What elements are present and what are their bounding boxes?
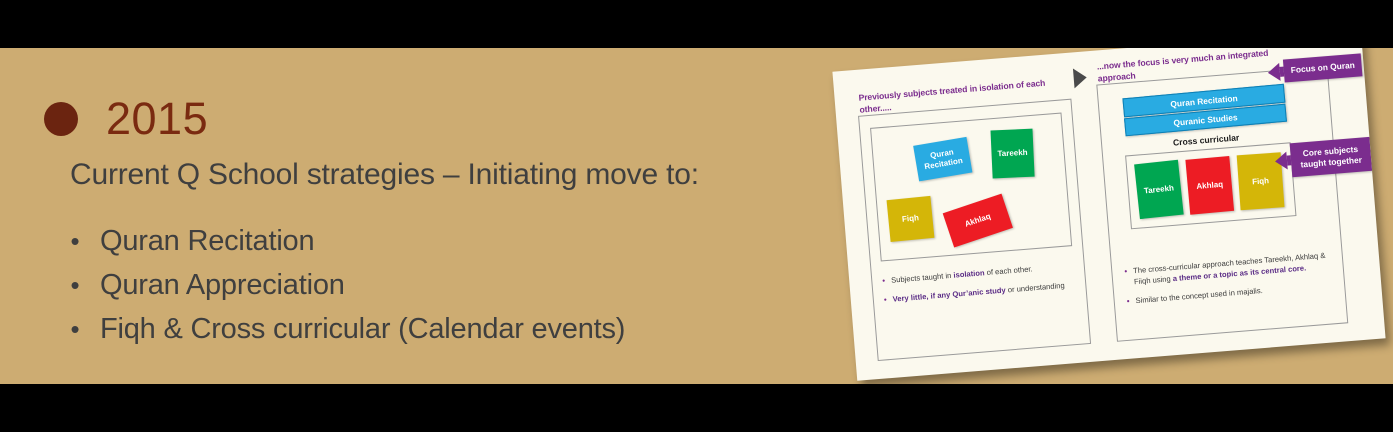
list-item-text: Similar to the concept used in majalis.	[1135, 285, 1263, 306]
bullet-glyph-icon: •	[1126, 296, 1130, 307]
bullet-glyph-icon: •	[70, 267, 80, 303]
left-panel: Quran Recitation Tareekh Fiqh Akhlaq • S…	[858, 99, 1091, 361]
list-item: • Quran Appreciation	[70, 267, 625, 303]
bullet-glyph-icon: •	[70, 311, 80, 347]
callout-core-subjects: Core subjects taught together	[1274, 137, 1372, 179]
subject-tile-tareekh: Tareekh	[990, 129, 1034, 179]
bullet-glyph-icon: •	[883, 294, 887, 305]
isolated-subjects-box: Quran Recitation Tareekh Fiqh Akhlaq	[870, 113, 1072, 262]
cross-curricular-box: Tareekh Akhlaq Fiqh	[1125, 142, 1296, 229]
bullet-list: • Quran Recitation • Quran Appreciation …	[70, 223, 625, 355]
diagram-card: Previously subjects treated in isolation…	[832, 29, 1385, 381]
list-item-text: Subjects taught in isolation of each oth…	[891, 263, 1033, 285]
slide-canvas: 2015 Current Q School strategies – Initi…	[0, 0, 1393, 432]
content-column: 2015 Current Q School strategies – Initi…	[0, 48, 840, 384]
bullet-dot-icon	[44, 102, 78, 136]
right-panel: Quran Recitation Quranic Studies Cross c…	[1096, 66, 1348, 342]
list-item: • Fiqh & Cross curricular (Calendar even…	[70, 311, 625, 347]
arrow-left-icon	[1274, 152, 1287, 171]
subject-tile-quran-recitation: Quran Recitation	[913, 137, 972, 182]
subtitle: Current Q School strategies – Initiating…	[70, 158, 699, 192]
subject-tile-akhlaq: Akhlaq	[1185, 156, 1234, 215]
list-item-label: Quran Appreciation	[100, 267, 345, 303]
callout-label: Core subjects taught together	[1290, 137, 1372, 177]
letterbox-bottom	[0, 384, 1393, 432]
page-title: 2015	[106, 96, 208, 141]
subject-tile-akhlaq: Akhlaq	[943, 194, 1013, 248]
bullet-glyph-icon: •	[70, 223, 80, 259]
bullet-glyph-icon: •	[1124, 266, 1129, 288]
arrow-left-icon	[1267, 62, 1280, 81]
right-panel-bullet-list: • The cross-curricular approach teaches …	[1124, 249, 1333, 314]
callout-label: Focus on Quran	[1283, 53, 1363, 82]
list-item-label: Fiqh & Cross curricular (Calendar events…	[100, 311, 625, 347]
subject-tile-fiqh: Fiqh	[887, 196, 935, 242]
letterbox-top	[0, 0, 1393, 48]
list-item-label: Quran Recitation	[100, 223, 314, 259]
subject-tile-tareekh: Tareekh	[1134, 160, 1184, 219]
diagram-card-container: Previously subjects treated in isolation…	[826, 22, 1386, 392]
list-item: • Quran Recitation	[70, 223, 625, 259]
bullet-glyph-icon: •	[882, 275, 886, 286]
year-heading-row: 2015	[44, 96, 208, 141]
left-panel-bullet-list: • Subjects taught in isolation of each o…	[882, 260, 1076, 313]
transition-arrow-icon	[1073, 67, 1088, 88]
